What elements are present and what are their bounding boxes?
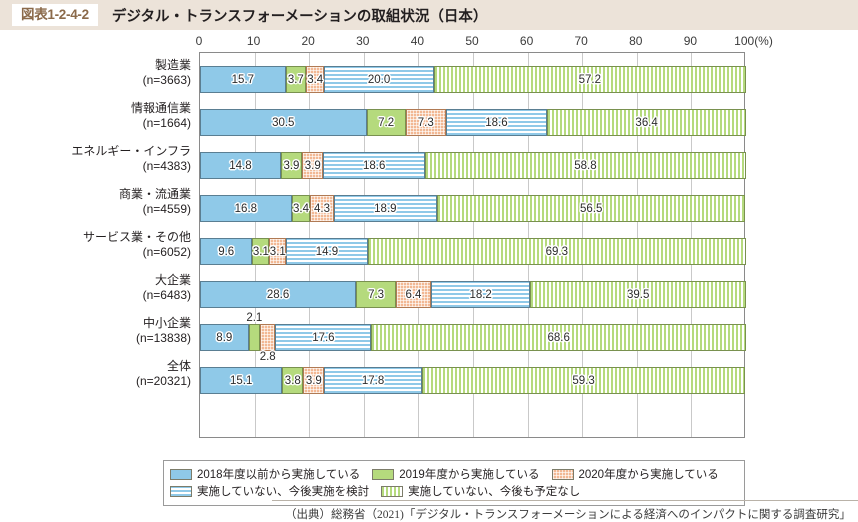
bar-segment[interactable]: 15.7 (200, 66, 286, 93)
category-name: サービス業・その他 (83, 230, 191, 244)
bar-segment-value: 56.5 (580, 203, 602, 215)
bar-segment[interactable]: 14.8 (200, 152, 281, 179)
chart-row: 全体(n=20321)15.13.83.917.859.3 (200, 359, 744, 402)
bar-segment[interactable]: 18.2 (431, 281, 530, 308)
bar-segment[interactable]: 30.5 (200, 109, 367, 136)
bar-segment-value: 18.9 (374, 203, 396, 215)
stacked-bar: 15.73.73.420.057.2 (200, 66, 744, 93)
legend-item-2[interactable]: 2020年度から実施している (552, 466, 719, 482)
category-name: 製造業 (155, 58, 191, 72)
bar-segment[interactable]: 3.7 (286, 66, 306, 93)
category-name: エネルギー・インフラ (71, 144, 191, 158)
bar-segment-value: 7.3 (368, 289, 384, 301)
bar-segment-value: 28.6 (267, 289, 289, 301)
bar-segment[interactable]: 18.6 (446, 109, 548, 136)
bar-segment[interactable]: 3.1 (269, 238, 286, 265)
category-label: サービス業・その他(n=6052) (11, 230, 191, 260)
bar-segment[interactable]: 57.2 (434, 66, 746, 93)
bar-segment[interactable]: 7.3 (356, 281, 396, 308)
bar-segment-value: 3.9 (305, 160, 321, 172)
bar-segment-value: 15.7 (232, 74, 254, 86)
bar-segment-value: 59.3 (572, 375, 594, 387)
bar-segment-value: 17.8 (362, 375, 384, 387)
legend-swatch-icon-3 (170, 486, 192, 497)
bar-segment-value: 18.2 (469, 289, 491, 301)
chart-container: 0102030405060708090100(%) 製造業(n=3663)15.… (0, 30, 858, 499)
bar-segment[interactable]: 68.6 (371, 324, 746, 351)
category-name: 情報通信業 (131, 101, 191, 115)
category-sample-size: (n=4383) (11, 159, 191, 174)
legend-item-4[interactable]: 実施していない、今後も予定なし (381, 483, 580, 499)
bar-segment[interactable]: 3.1 (252, 238, 269, 265)
bar-segment[interactable]: 17.6 (275, 324, 371, 351)
bar-segment[interactable]: 18.6 (323, 152, 425, 179)
source-divider (272, 500, 858, 501)
bar-segment[interactable]: 3.4 (292, 195, 311, 222)
x-axis-tick-100: 100(%) (734, 34, 773, 48)
bar-segment[interactable]: 8.9 (200, 324, 249, 351)
bar-segment-value: 57.2 (579, 74, 601, 86)
legend-item-0[interactable]: 2018年度以前から実施している (170, 466, 360, 482)
legend-label-4: 実施していない、今後も予定なし (408, 483, 580, 499)
category-label: エネルギー・インフラ(n=4383) (11, 144, 191, 174)
x-axis-tick-labels: 0102030405060708090100(%) (0, 34, 858, 52)
legend-label-3: 実施していない、今後実施を検討 (197, 483, 369, 499)
bar-segment[interactable]: 3.9 (302, 152, 323, 179)
bar-segment-value: 7.3 (418, 117, 434, 129)
chart-row: 商業・流通業(n=4559)16.83.44.318.956.5 (200, 187, 744, 230)
category-name: 大企業 (155, 273, 191, 287)
bar-segment[interactable]: 28.6 (200, 281, 356, 308)
bar-segment[interactable]: 7.3 (406, 109, 446, 136)
title-bar: 図表1-2-4-2 デジタル・トランスフォーメーションの取組状況（日本） (0, 0, 858, 30)
bar-segment[interactable]: 16.8 (200, 195, 292, 222)
category-name: 中小企業 (143, 316, 191, 330)
bar-segment[interactable]: 69.3 (368, 238, 746, 265)
chart-row: エネルギー・インフラ(n=4383)14.83.93.918.658.8 (200, 144, 744, 187)
legend-swatch-icon-1 (372, 469, 394, 480)
plot-area: 製造業(n=3663)15.73.73.420.057.2情報通信業(n=166… (199, 52, 745, 438)
legend-label-2: 2020年度から実施している (579, 466, 719, 482)
legend-item-3[interactable]: 実施していない、今後実施を検討 (170, 483, 369, 499)
legend-swatch-icon-2 (552, 469, 574, 480)
bar-segment[interactable]: 15.1 (200, 367, 282, 394)
bar-segment[interactable]: 36.4 (547, 109, 746, 136)
x-axis-tick-80: 80 (629, 34, 642, 48)
x-axis-tick-90: 90 (684, 34, 697, 48)
x-axis-tick-20: 20 (302, 34, 315, 48)
bar-segment[interactable]: 3.9 (281, 152, 302, 179)
bar-segment-value: 3.9 (306, 375, 322, 387)
bar-segment-value: 7.2 (378, 117, 394, 129)
bar-segment-value: 36.4 (635, 117, 657, 129)
stacked-bar: 14.83.93.918.658.8 (200, 152, 744, 179)
category-sample-size: (n=6052) (11, 245, 191, 260)
bar-segment-value: 3.7 (288, 74, 304, 86)
bar-segment-value: 3.4 (307, 74, 323, 86)
legend-item-1[interactable]: 2019年度から実施している (372, 466, 539, 482)
x-axis-tick-0: 0 (196, 34, 203, 48)
bar-segment-value: 3.8 (285, 375, 301, 387)
chart-row: 製造業(n=3663)15.73.73.420.057.2 (200, 58, 744, 101)
category-label: 中小企業(n=13838) (11, 316, 191, 346)
x-axis-tick-60: 60 (520, 34, 533, 48)
bar-segment[interactable]: 3.8 (282, 367, 303, 394)
bar-segment-value: 3.4 (293, 203, 309, 215)
bar-segment[interactable]: 3.9 (303, 367, 324, 394)
bar-segment-value: 30.5 (272, 117, 294, 129)
chart-row: 中小企業(n=13838)8.92.12.817.668.6 (200, 316, 744, 359)
legend-swatch-icon-4 (381, 486, 403, 497)
category-sample-size: (n=1664) (11, 116, 191, 131)
category-sample-size: (n=3663) (11, 73, 191, 88)
x-axis-tick-50: 50 (465, 34, 478, 48)
figure-number-tag: 図表1-2-4-2 (12, 4, 98, 26)
bar-segment[interactable]: 39.5 (530, 281, 746, 308)
legend-label-0: 2018年度以前から実施している (197, 466, 360, 482)
bar-segment-value: 14.9 (316, 246, 338, 258)
bar-segment[interactable]: 3.4 (306, 66, 325, 93)
category-sample-size: (n=13838) (11, 331, 191, 346)
stacked-bar: 30.57.27.318.636.4 (200, 109, 744, 136)
source-note: （出典）総務省（2021)「デジタル・トランスフォーメーションによる経済へのイン… (285, 506, 851, 522)
bar-segment[interactable]: 2.1 (249, 324, 260, 351)
category-sample-size: (n=4559) (11, 202, 191, 217)
bar-segment[interactable]: 4.3 (310, 195, 333, 222)
bar-segment-value: 18.6 (363, 160, 385, 172)
category-name: 商業・流通業 (119, 187, 191, 201)
bar-segment-value: 20.0 (368, 74, 390, 86)
legend-label-1: 2019年度から実施している (399, 466, 539, 482)
stacked-bar: 8.92.12.817.668.6 (200, 324, 744, 351)
x-axis-tick-70: 70 (575, 34, 588, 48)
bar-segment-value: 2.1 (246, 312, 262, 324)
x-axis-tick-40: 40 (411, 34, 424, 48)
bar-segment-value: 15.1 (230, 375, 252, 387)
category-name: 全体 (167, 359, 191, 373)
x-axis-tick-30: 30 (356, 34, 369, 48)
bar-segment-value: 16.8 (235, 203, 257, 215)
category-label: 情報通信業(n=1664) (11, 101, 191, 131)
x-axis-tick-10: 10 (247, 34, 260, 48)
legend-row-1: 2018年度以前から実施している 2019年度から実施している 2020年度から… (170, 466, 738, 482)
bar-segment-value: 8.9 (216, 332, 232, 344)
legend-row-2: 実施していない、今後実施を検討 実施していない、今後も予定なし (170, 483, 738, 499)
bar-segment-value: 3.1 (270, 246, 286, 258)
category-sample-size: (n=6483) (11, 288, 191, 303)
bar-segment[interactable]: 17.8 (324, 367, 421, 394)
bar-segment-value: 4.3 (314, 203, 330, 215)
bar-segment-value: 9.6 (218, 246, 234, 258)
bar-segment[interactable]: 58.8 (425, 152, 746, 179)
bar-segment-value: 14.8 (229, 160, 251, 172)
bar-segment[interactable]: 20.0 (324, 66, 433, 93)
bar-segment[interactable]: 2.8 (260, 324, 275, 351)
bar-segment-value: 2.8 (260, 351, 276, 363)
bar-segment-value: 3.1 (253, 246, 269, 258)
bar-segment-value: 18.6 (485, 117, 507, 129)
bar-segment[interactable]: 18.9 (334, 195, 437, 222)
legend-swatch-icon-0 (170, 469, 192, 480)
category-sample-size: (n=20321) (11, 374, 191, 389)
bar-segment-value: 6.4 (405, 289, 421, 301)
chart-row: 大企業(n=6483)28.67.36.418.239.5 (200, 273, 744, 316)
bar-segment[interactable]: 56.5 (437, 195, 745, 222)
category-label: 商業・流通業(n=4559) (11, 187, 191, 217)
bar-segment-value: 58.8 (574, 160, 596, 172)
stacked-bar: 9.63.13.114.969.3 (200, 238, 744, 265)
category-label: 大企業(n=6483) (11, 273, 191, 303)
category-label: 製造業(n=3663) (11, 58, 191, 88)
chart-row: 情報通信業(n=1664)30.57.27.318.636.4 (200, 101, 744, 144)
bar-segment-value: 17.6 (312, 332, 334, 344)
page-title: デジタル・トランスフォーメーションの取組状況（日本） (112, 5, 488, 26)
chart-row: サービス業・その他(n=6052)9.63.13.114.969.3 (200, 230, 744, 273)
bar-segment-value: 3.9 (283, 160, 299, 172)
bar-segment[interactable]: 6.4 (396, 281, 431, 308)
bar-segment[interactable]: 14.9 (286, 238, 367, 265)
category-label: 全体(n=20321) (11, 359, 191, 389)
stacked-bar: 15.13.83.917.859.3 (200, 367, 744, 394)
bar-segment-value: 69.3 (546, 246, 568, 258)
bar-segment-value: 39.5 (627, 289, 649, 301)
stacked-bar: 28.67.36.418.239.5 (200, 281, 744, 308)
bar-segment[interactable]: 9.6 (200, 238, 252, 265)
bar-segment-value: 68.6 (548, 332, 570, 344)
bar-segment[interactable]: 7.2 (367, 109, 406, 136)
bar-segment[interactable]: 59.3 (422, 367, 746, 394)
stacked-bar: 16.83.44.318.956.5 (200, 195, 744, 222)
